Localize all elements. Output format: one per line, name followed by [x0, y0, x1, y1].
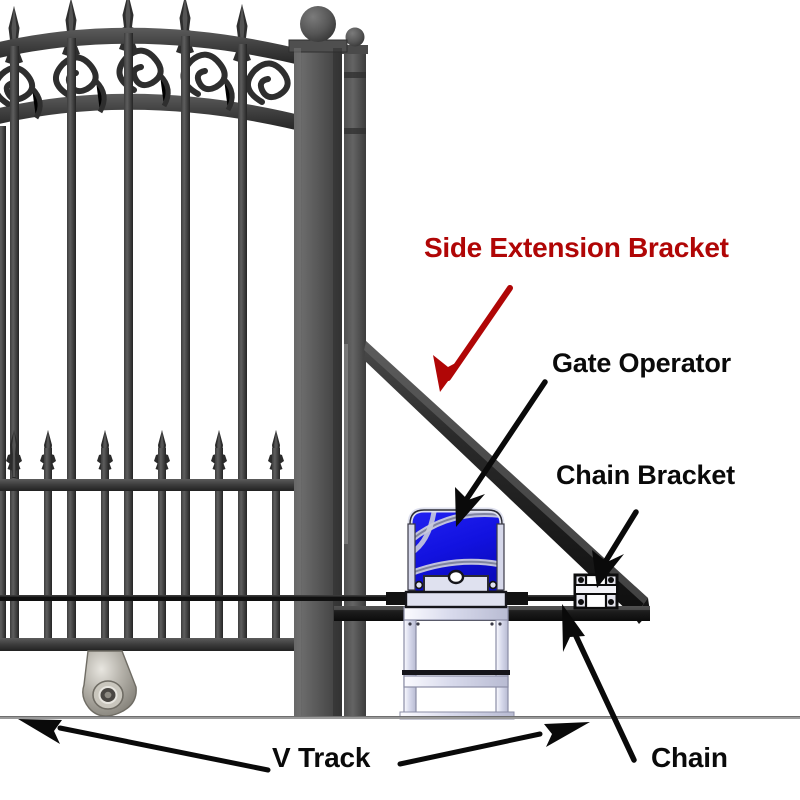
- label-gate-operator: Gate Operator: [552, 350, 731, 377]
- label-chain: Chain: [651, 744, 728, 772]
- ornamental-gate: [0, 0, 312, 716]
- gate-mid-rail: [0, 479, 300, 491]
- leader-arrow-side-extension-bracket: [433, 288, 510, 392]
- gate-installation-illustration: [0, 0, 800, 800]
- gate-lower-curved-rail: [0, 94, 312, 134]
- gate-bottom-rail: [0, 638, 300, 651]
- label-side-extension-bracket: Side Extension Bracket: [424, 234, 729, 262]
- v-track: [0, 716, 800, 719]
- gate-top-ornament-panel: [0, 0, 312, 230]
- label-v-track: V Track: [272, 744, 370, 772]
- gate-pickets-body: [0, 106, 247, 650]
- leader-arrow-chain: [562, 604, 634, 760]
- diagram-canvas: Side Extension Bracket Gate Operator Cha…: [0, 0, 800, 800]
- label-chain-bracket: Chain Bracket: [556, 462, 735, 489]
- operator-stand: [400, 607, 514, 719]
- v-groove-roller: [83, 651, 136, 716]
- leader-arrow-v-track-right: [400, 722, 590, 764]
- leader-arrow-v-track-left: [18, 719, 268, 770]
- gate-operator: [386, 510, 528, 719]
